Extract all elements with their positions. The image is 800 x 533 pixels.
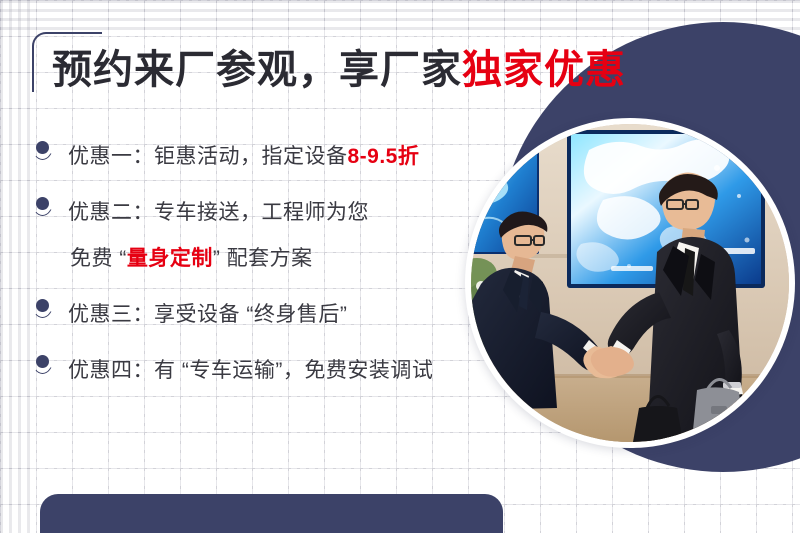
list-item: 优惠四：有 “专车运输”，免费安装调试 xyxy=(30,348,470,394)
benefit-text: ” 配套方案 xyxy=(213,247,313,270)
headline-accent-text: 独家优惠 xyxy=(462,48,626,92)
benefit-line: 优惠一：钜惠活动，指定设备8-9.5折 xyxy=(68,134,470,180)
benefit-text: 优惠三：享受设备 “终身售后” xyxy=(68,303,347,326)
bullet-dot-arc-icon xyxy=(32,141,54,161)
benefit-line: 优惠四：有 “专车运输”，免费安装调试 xyxy=(68,348,470,394)
list-item: 优惠一：钜惠活动，指定设备8-9.5折 xyxy=(30,134,470,180)
list-item: 优惠二：专车接送，工程师为您 免费 “量身定制” 配套方案 xyxy=(30,190,470,282)
handshake-photo-illustration xyxy=(471,124,789,442)
bottom-bar-decoration xyxy=(40,494,503,533)
benefit-text: 优惠二：专车接送，工程师为您 xyxy=(68,201,369,224)
headline-normal-text: 预约来厂参观，享厂家 xyxy=(52,48,462,92)
benefit-text: 优惠一：钜惠活动，指定设备 xyxy=(68,145,348,168)
list-item: 优惠三：享受设备 “终身售后” xyxy=(30,292,470,338)
benefit-accent-text: 8-9.5折 xyxy=(348,145,420,168)
photo-circle-frame xyxy=(465,118,795,448)
bullet-dot-arc-icon xyxy=(32,197,54,217)
handshake-photo xyxy=(471,124,789,442)
page-title: 预约来厂参观，享厂家独家优惠 xyxy=(52,47,626,93)
benefit-accent-text: 量身定制 xyxy=(127,247,213,270)
bullet-dot-arc-icon xyxy=(32,299,54,319)
promo-banner: 预约来厂参观，享厂家独家优惠 优惠一：钜惠活动，指定设备8-9.5折 优惠二：专… xyxy=(0,0,800,533)
benefit-text: 优惠四：有 “专车运输”，免费安装调试 xyxy=(68,359,433,382)
benefit-text: 免费 “ xyxy=(70,247,127,270)
benefit-line: 优惠二：专车接送，工程师为您 xyxy=(68,190,470,236)
benefits-list: 优惠一：钜惠活动，指定设备8-9.5折 优惠二：专车接送，工程师为您 免费 “量… xyxy=(30,134,470,404)
benefit-line: 免费 “量身定制” 配套方案 xyxy=(68,236,470,282)
benefit-line: 优惠三：享受设备 “终身售后” xyxy=(68,292,470,338)
bullet-dot-arc-icon xyxy=(32,355,54,375)
